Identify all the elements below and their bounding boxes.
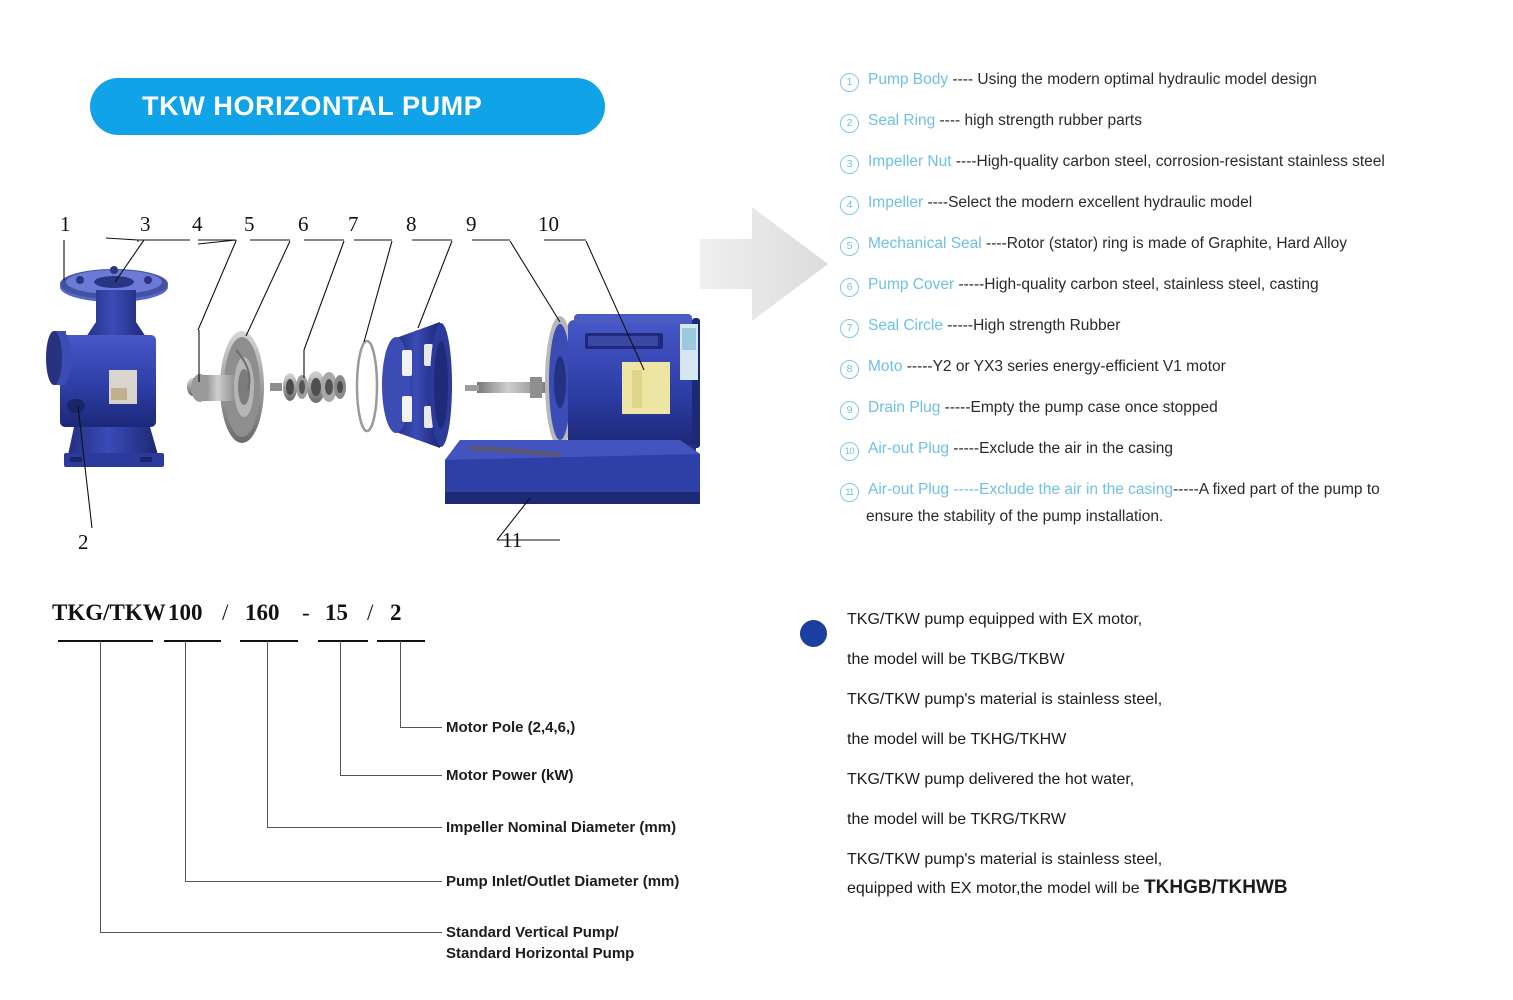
- circled-number-icon: 8: [840, 360, 859, 379]
- legend-text: Pump Body ---- Using the modern optimal …: [868, 70, 1500, 91]
- circled-number-icon: 3: [840, 155, 859, 174]
- model-variant-notes: TKG/TKW pump equipped with EX motor, the…: [800, 612, 1420, 921]
- callout-leader-lines: [40, 210, 700, 570]
- note-line-1: TKG/TKW pump equipped with EX motor,: [847, 612, 1420, 628]
- part-description: A fixed part of the pump to: [1199, 481, 1380, 498]
- legend-item-8: 8 Moto -----Y2 or YX3 series energy-effi…: [840, 357, 1500, 379]
- circled-number-icon: 4: [840, 196, 859, 215]
- part-description: High strength Rubber: [973, 317, 1120, 334]
- part-description: high strength rubber parts: [964, 112, 1142, 129]
- legend-item-1: 1 Pump Body ---- Using the modern optima…: [840, 70, 1500, 92]
- parts-legend-list: 1 Pump Body ---- Using the modern optima…: [840, 70, 1500, 526]
- part-separator: ----: [948, 71, 977, 88]
- legend-item-10: 10 Air-out Plug -----Exclude the air in …: [840, 439, 1500, 461]
- part-description-blue: Exclude the air in the casing: [979, 481, 1173, 498]
- code-segment-pole: 2: [390, 600, 402, 626]
- circled-number-icon: 10: [840, 442, 859, 461]
- label-impeller-diam: Impeller Nominal Diameter (mm): [446, 818, 676, 838]
- part-description: High-quality carbon steel, stainless ste…: [984, 276, 1318, 293]
- note-line-7: TKG/TKW pump's material is stainless ste…: [847, 852, 1420, 868]
- connector-hline-series: [100, 932, 442, 933]
- page-title: TKW HORIZONTAL PUMP: [142, 91, 482, 122]
- part-name: Mechanical Seal: [868, 235, 982, 252]
- circled-number-icon: 7: [840, 319, 859, 338]
- right-arrow-icon: [700, 203, 830, 325]
- legend-text: Seal Ring ---- high strength rubber part…: [868, 111, 1500, 132]
- connector-vline-inlet: [185, 641, 186, 881]
- part-description: Y2 or YX3 series energy-efficient V1 mot…: [933, 358, 1226, 375]
- circled-number-icon: 1: [840, 73, 859, 92]
- legend-text: Air-out Plug -----Exclude the air in the…: [868, 439, 1500, 460]
- legend-text: Impeller ----Select the modern excellent…: [868, 193, 1500, 214]
- part-name: Impeller Nut: [868, 153, 952, 170]
- connector-vline-pole: [400, 641, 401, 727]
- part-description: Select the modern excellent hydraulic mo…: [948, 194, 1252, 211]
- part-description: Empty the pump case once stopped: [971, 399, 1218, 416]
- legend-item-7: 7 Seal Circle -----High strength Rubber: [840, 316, 1500, 338]
- part-description: Using the modern optimal hydraulic model…: [977, 71, 1316, 88]
- code-separator-3: /: [367, 600, 373, 626]
- note-line-2: the model will be TKBG/TKBW: [847, 652, 1420, 668]
- title-banner: TKW HORIZONTAL PUMP: [90, 78, 605, 135]
- legend-item-2: 2 Seal Ring ---- high strength rubber pa…: [840, 111, 1500, 133]
- part-name: Moto: [868, 358, 902, 375]
- part-name: Seal Circle: [868, 317, 943, 334]
- underline-series: [58, 640, 153, 642]
- part-name: Pump Cover: [868, 276, 954, 293]
- connector-vline-power: [340, 641, 341, 775]
- note-line-6: the model will be TKRG/TKRW: [847, 812, 1420, 828]
- legend-text: Seal Circle -----High strength Rubber: [868, 316, 1500, 337]
- legend-text: Air-out Plug -----Exclude the air in the…: [868, 480, 1500, 501]
- part-description: High-quality carbon steel, corrosion-res…: [977, 153, 1385, 170]
- code-segment-series: TKG/TKW: [52, 600, 166, 626]
- connector-hline-impeller: [267, 827, 442, 828]
- model-code-designation: TKG/TKW 100 / 160 - 15 / 2 Motor Pole (2…: [40, 596, 740, 956]
- legend-text: Drain Plug -----Empty the pump case once…: [868, 398, 1500, 419]
- circled-number-icon: 11: [840, 483, 859, 502]
- underline-inlet: [164, 640, 221, 642]
- code-separator-1: /: [222, 600, 228, 626]
- part-separator-2: -----: [1173, 481, 1199, 498]
- part-description: Exclude the air in the casing: [979, 440, 1173, 457]
- code-segment-power: 15: [325, 600, 348, 626]
- connector-vline-impeller: [267, 641, 268, 827]
- label-standard-pump-2: Standard Horizontal Pump: [446, 944, 634, 964]
- connector-hline-pole: [400, 727, 442, 728]
- part-separator: -----: [902, 358, 932, 375]
- part-name: Air-out Plug: [868, 440, 949, 457]
- note-line-3: TKG/TKW pump's material is stainless ste…: [847, 692, 1420, 708]
- label-motor-pole: Motor Pole (2,4,6,): [446, 718, 575, 738]
- part-separator: -----: [949, 481, 979, 498]
- code-separator-2: -: [302, 600, 310, 626]
- exploded-pump-figure: 1 3 4 5 6 7 8 9 10 2 11: [40, 210, 700, 570]
- part-name: Seal Ring: [868, 112, 935, 129]
- part-separator: ----: [935, 112, 964, 129]
- note-line-8-prefix: equipped with EX motor,the model will be: [847, 880, 1144, 897]
- part-separator: -----: [940, 399, 970, 416]
- part-separator: -----: [943, 317, 973, 334]
- part-separator: -----: [949, 440, 979, 457]
- legend-text: Pump Cover -----High-quality carbon stee…: [868, 275, 1500, 296]
- circled-number-icon: 5: [840, 237, 859, 256]
- underline-impeller: [240, 640, 298, 642]
- part-name: Pump Body: [868, 71, 948, 88]
- part-separator: -----: [954, 276, 984, 293]
- label-standard-pump-1: Standard Vertical Pump/: [446, 923, 619, 943]
- legend-item-5: 5 Mechanical Seal ----Rotor (stator) rin…: [840, 234, 1500, 256]
- part-name: Air-out Plug: [868, 481, 949, 498]
- label-motor-power: Motor Power (kW): [446, 766, 574, 786]
- page-root: TKW HORIZONTAL PUMP: [0, 0, 1513, 1000]
- legend-text: Mechanical Seal ----Rotor (stator) ring …: [868, 234, 1500, 255]
- bullet-dot-icon: [800, 620, 827, 647]
- note-line-4: the model will be TKHG/TKHW: [847, 732, 1420, 748]
- code-segment-impeller: 160: [245, 600, 280, 626]
- legend-item-9: 9 Drain Plug -----Empty the pump case on…: [840, 398, 1500, 420]
- connector-hline-power: [340, 775, 442, 776]
- note-line-8-model: TKHGB/TKHWB: [1144, 877, 1288, 898]
- part-description: Rotor (stator) ring is made of Graphite,…: [1007, 235, 1347, 252]
- legend-text: Impeller Nut ----High-quality carbon ste…: [868, 152, 1500, 173]
- part-name: Impeller: [868, 194, 923, 211]
- part-separator: ----: [923, 194, 948, 211]
- part-separator: ----: [982, 235, 1007, 252]
- note-line-5: TKG/TKW pump delivered the hot water,: [847, 772, 1420, 788]
- circled-number-icon: 2: [840, 114, 859, 133]
- label-inlet-diam: Pump Inlet/Outlet Diameter (mm): [446, 872, 679, 892]
- underline-pole: [377, 640, 425, 642]
- legend-item-4: 4 Impeller ----Select the modern excelle…: [840, 193, 1500, 215]
- code-segment-inlet: 100: [168, 600, 203, 626]
- circled-number-icon: 9: [840, 401, 859, 420]
- legend-item-6: 6 Pump Cover -----High-quality carbon st…: [840, 275, 1500, 297]
- legend-item-11: 11 Air-out Plug -----Exclude the air in …: [840, 480, 1500, 502]
- connector-vline-series: [100, 641, 101, 932]
- circled-number-icon: 6: [840, 278, 859, 297]
- part-name: Drain Plug: [868, 399, 940, 416]
- underline-power: [318, 640, 368, 642]
- connector-hline-inlet: [185, 881, 442, 882]
- part-separator: ----: [952, 153, 977, 170]
- legend-item-11-continuation: ensure the stability of the pump install…: [866, 508, 1500, 526]
- note-line-8: equipped with EX motor,the model will be…: [847, 878, 1420, 897]
- legend-item-3: 3 Impeller Nut ----High-quality carbon s…: [840, 152, 1500, 174]
- legend-text: Moto -----Y2 or YX3 series energy-effici…: [868, 357, 1500, 378]
